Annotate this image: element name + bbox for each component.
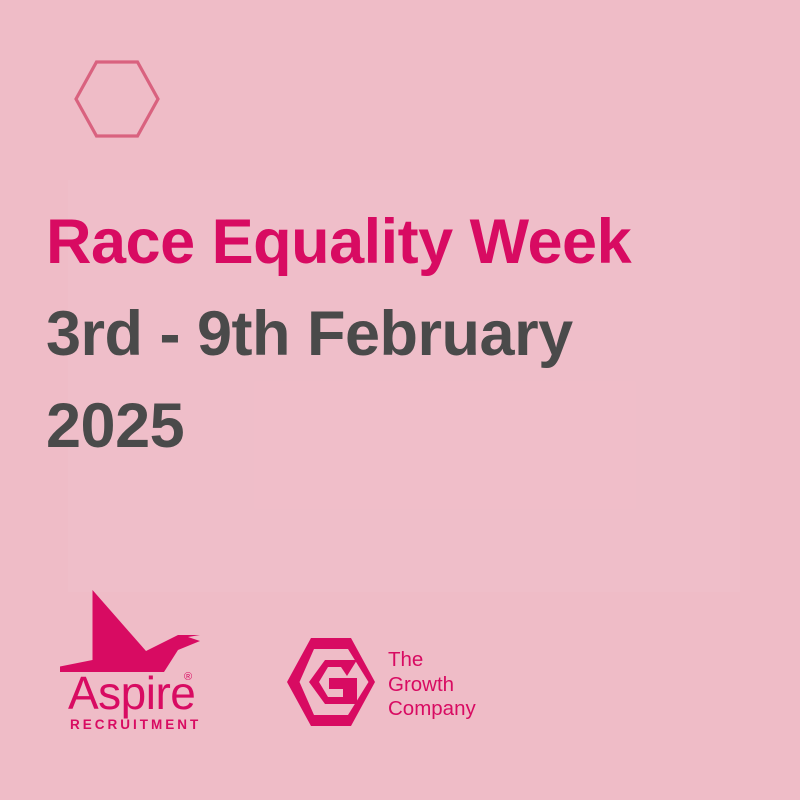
aspire-recruitment-logo: Aspire ® RECRUITMENT — [60, 588, 225, 743]
aspire-wordmark: Aspire ® — [68, 670, 220, 716]
hexagon-outline-icon — [74, 59, 160, 139]
growth-company-wordmark: The Growth Company — [388, 648, 548, 722]
aspire-bird-icon — [60, 588, 220, 673]
growth-company-line-2: Growth — [388, 673, 548, 698]
page-title: Race Equality Week — [46, 196, 746, 288]
growth-company-line-1: The — [388, 648, 548, 673]
aspire-wordmark-text: Aspire — [68, 670, 195, 716]
logo-row: Aspire ® RECRUITMENT The Growth Company — [60, 588, 760, 758]
event-year: 2025 — [46, 380, 746, 472]
poster-canvas: Race Equality Week 3rd - 9th February 20… — [0, 0, 800, 800]
growth-company-logo: The Growth Company — [285, 636, 550, 728]
growth-company-line-3: Company — [388, 697, 548, 722]
headline-block: Race Equality Week 3rd - 9th February 20… — [46, 196, 746, 472]
registered-trademark-icon: ® — [184, 672, 192, 683]
event-date-range: 3rd - 9th February — [46, 288, 746, 380]
aspire-tagline: RECRUITMENT — [70, 718, 201, 732]
hexagon-g-monogram-icon — [285, 636, 377, 728]
